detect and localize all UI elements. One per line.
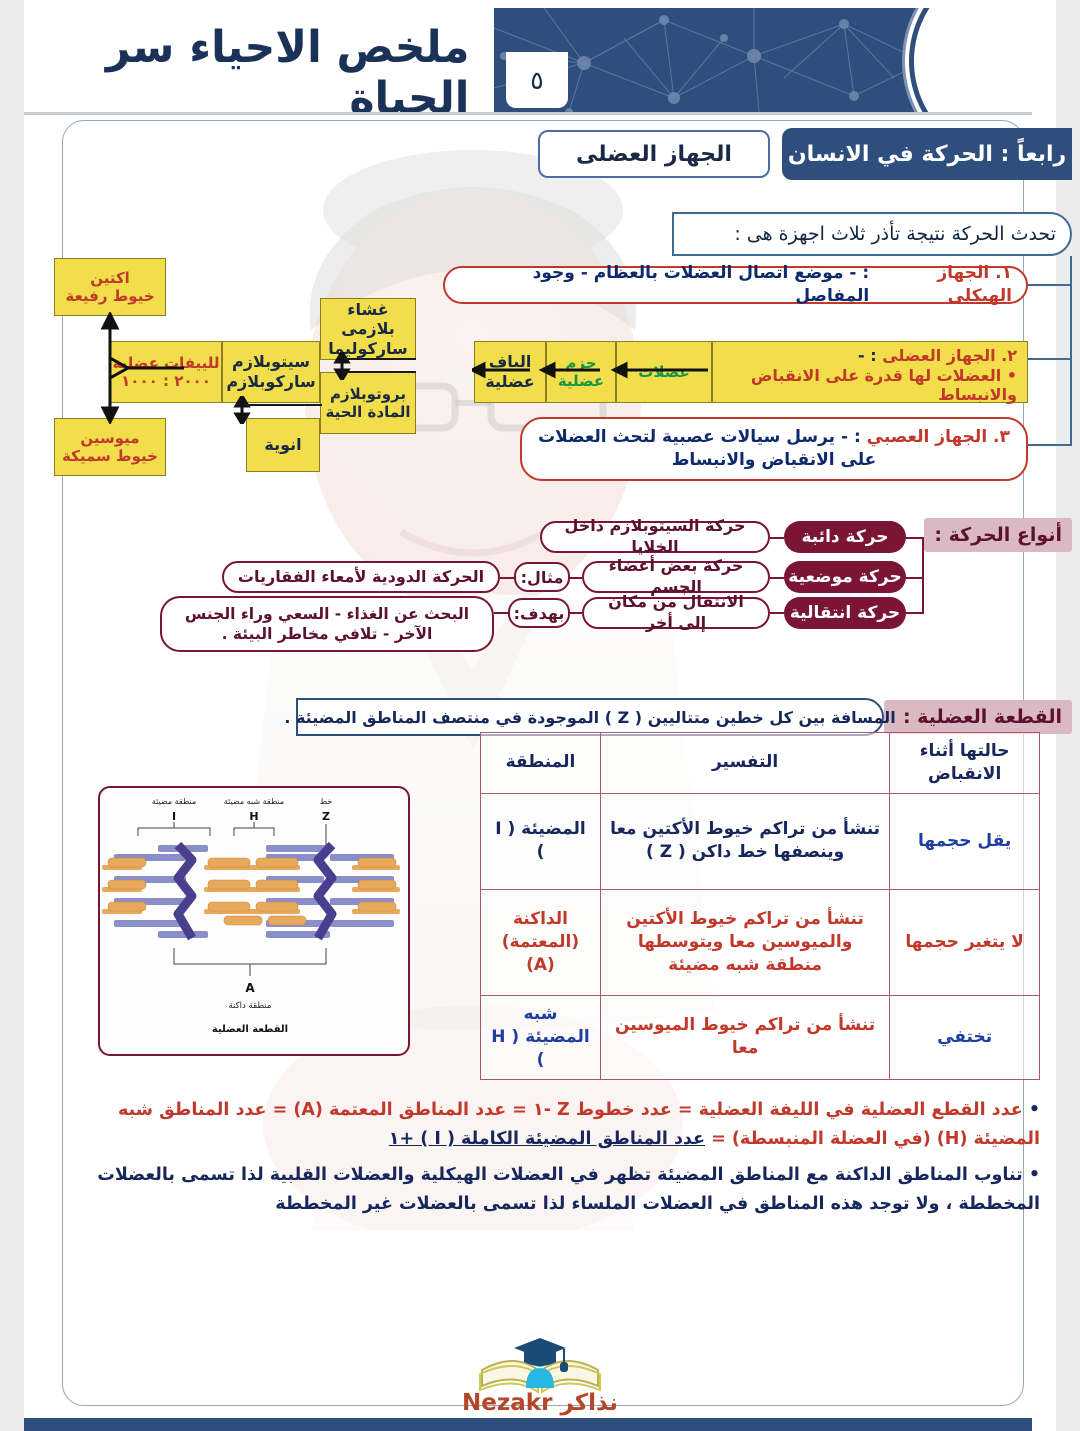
page-root: ملخص الاحياء سر الحياة ٥ [0,0,1080,1431]
sarcomere-definition: المسافة بين كل خطين متتاليين ( Z ) الموج… [296,698,884,736]
diagram-caption: القطعة العضلية [212,1024,288,1035]
note-bullet-icon: • [1029,1100,1040,1120]
table-cell-explain: تنشأ من تراكم خيوط الميوسين معا [600,995,889,1079]
box-myosin-line1: ميوسين [80,429,139,447]
note-item: • تناوب المناطق الداكنة مع المناطق المضي… [88,1161,1040,1219]
graduation-book-icon [474,1330,606,1394]
table-row: يقل حجمها تنشأ من تراكم خيوط الأكتين معا… [481,793,1040,889]
box-protoplasm-line1: بروتوبلازم [330,385,406,403]
movement-desc-2: حركة بعض أعضاء الجسم [582,561,770,593]
movement-branch-1 [906,537,924,539]
movement-type-3-label: حركة انتقالية [790,603,900,623]
table-row: لا يتغير حجمها تنشأ من تراكم خيوط الأكتي… [481,889,1040,995]
table-cell-explain: تنشأ من تراكم خيوط الأكتين والميوسين معا… [600,889,889,995]
movement-example-text-label: الحركة الدودية لأمعاء الفقاريات [238,567,484,588]
movement-goal-text: البحث عن الغذاء - السعي وراء الجنس الآخر… [160,596,494,652]
box-protoplasm: بروتوبلازم المادة الحية [320,372,416,434]
movement-example-text: الحركة الدودية لأمعاء الفقاريات [222,561,500,593]
movement-spine-vertical [922,537,924,613]
movement-link-example2 [500,577,514,579]
movement-branch-2 [906,577,924,579]
banner-title-area: ملخص الاحياء سر الحياة [24,8,494,112]
system-skeletal-desc: : - موضع اتصال العضلات بالعظام - وجود ال… [459,262,869,308]
movement-desc-1-label: حركة السيتوبلازم داخل الخلايا [550,516,760,558]
note-item: • عدد القطع العضلية في الليفة العضلية = … [88,1096,1040,1154]
movement-link-goal2 [494,612,508,614]
table-cell-state: لا يتغير حجمها [890,889,1040,995]
movement-branch-3 [906,612,924,614]
movement-type-1-label: حركة دائبة [801,527,888,547]
movement-goal-tag-label: بهدف: [514,604,565,623]
system-nervous: ٣. الجهاز العصبي : - يرسل سيالات عصبية ل… [520,417,1028,481]
system-skeletal: ١. الجهاز الهيكلى : - موضع اتصال العضلات… [443,266,1028,304]
page-title: ملخص الاحياء سر الحياة [43,22,470,112]
bottom-bar [24,1418,1032,1431]
connector-membrane-right2 [344,371,416,373]
table-header-region: المنطقة [481,733,601,794]
box-actin-line2: خيوط رفيعة [65,287,154,305]
system-nervous-name: ٣. الجهاز العصبي [867,427,1010,447]
diagram-label-z: خط [320,797,333,806]
movement-type-1: حركة دائبة [784,521,906,553]
membrane-protoplasm-arrow-icon [332,352,352,380]
box-actin: اكتين خيوط رفيعة [54,258,166,316]
box-myosin: ميوسين خيوط سميكة [54,418,166,476]
box-nuclei: انوية [246,418,320,472]
movement-desc-3: الانتقال من مكان إلى أخر [582,597,770,629]
system-muscular-colon: : - [858,346,882,365]
chain-arrows-icon [472,358,712,382]
box-cytoplasm-line1: سيتوبلازم [232,352,310,372]
box-myosin-line2: خيوط سميكة [62,447,158,465]
movement-example-tag-label: مثال: [521,568,564,587]
table-header-explain: التفسير [600,733,889,794]
sarcomere-diagram: منطقة مضيئة I منطقة شبه مضيئة H خط Z [98,786,410,1056]
banner-arc-decoration [914,8,1032,112]
section-tab: رابعاً : الحركة في الانسان [782,128,1072,180]
connector-cytoplasm-right [244,404,322,406]
sarcomere-diagram-svg: منطقة مضيئة I منطقة شبه مضيئة H خط Z [96,788,408,1058]
system-muscular-box: ٢. الجهاز العضلى : - • العضلات لها قدرة … [712,341,1028,403]
table-cell-region: الداكنة (المعتمة) (A) [481,889,601,995]
box-protoplasm-line2: المادة الحية [325,403,410,421]
movement-type-2-label: حركة موضعية [788,567,901,587]
brand-name: نذاكر Nezakr [462,1390,618,1416]
table-cell-state: يقل حجمها [890,793,1040,889]
movement-type-2: حركة موضعية [784,561,906,593]
box-cytoplasm: سيتوبلازم ساركوبلازم [222,341,320,403]
system-muscular-bullet: • العضلات لها قدرة على الانقباض والانبسا… [751,366,1017,405]
note-bullet-icon: • [1029,1165,1040,1185]
movement-goal-text-label: البحث عن الغذاء - السعي وراء الجنس الآخر… [170,604,484,644]
footer-logo: نذاكر Nezakr [0,1330,1080,1426]
movement-type-3: حركة انتقالية [784,597,906,629]
left-branch-arrows-icon [74,312,194,424]
movement-goal-tag: بهدف: [508,598,570,628]
diagram-letter-a: A [245,981,255,995]
diagram-label-a: منطقة داكنة [229,1001,272,1011]
note-2-text: تناوب المناطق الداكنة مع المناطق المضيئة… [97,1165,1040,1214]
box-plasma-membrane-line1: غشاء بلازمى [321,300,415,339]
notes-list: • عدد القطع العضلية في الليفة العضلية = … [88,1096,1040,1226]
movement-link-1 [770,537,784,539]
box-cytoplasm-line2: ساركوبلازم [226,372,315,392]
table-cell-state: تختفي [890,995,1040,1079]
sarcomere-definition-text: المسافة بين كل خطين متتاليين ( Z ) الموج… [284,708,895,727]
table-header-row: حالتها أثناء الانقباض التفسير المنطقة [481,733,1040,794]
movement-link-goal [570,612,582,614]
diagram-label-i: منطقة مضيئة [152,797,196,806]
box-plasma-membrane: غشاء بلازمى ساركوليما [320,298,416,360]
movement-example-tag: مثال: [514,562,570,592]
box-nuclei-label: انوية [264,435,301,455]
movement-desc-1: حركة السيتوبلازم داخل الخلايا [540,521,770,553]
page-number: ٥ [506,52,568,108]
sarcomere-table: حالتها أثناء الانقباض التفسير المنطقة يق… [480,732,1040,1080]
diagram-letter-z: Z [322,810,330,823]
spine-branch-2 [1026,358,1072,360]
system-skeletal-name: ١. الجهاز الهيكلى [869,262,1012,308]
table-header-state: حالتها أثناء الانقباض [890,733,1040,794]
table-row: تختفي تنشأ من تراكم خيوط الميوسين معا شب… [481,995,1040,1079]
system-muscular-name: ٢. الجهاز العضلى [882,346,1017,365]
system-nervous-desc: : - يرسل سيالات عصبية لتحث العضلات على ا… [538,427,876,470]
note-1-part2: عدد المناطق المضيئة الكاملة ( I ) +١ [389,1129,705,1149]
table-cell-explain: تنشأ من تراكم خيوط الأكتين معا وينصفها خ… [600,793,889,889]
section-subtitle: الجهاز العضلى [538,130,770,178]
box-actin-line1: اكتين [90,269,130,287]
connector-membrane-right [344,358,416,360]
diagram-letter-i: I [172,810,176,823]
movement-link-2 [770,577,784,579]
diagram-letter-h: H [249,810,258,823]
movement-types-label: أنواع الحركة : [924,518,1072,552]
movement-link-3 [770,612,784,614]
table-cell-region: المضيئة ( I ) [481,793,601,889]
table-cell-region: شبه المضيئة ( H ) [481,995,601,1079]
movement-desc-3-label: الانتقال من مكان إلى أخر [592,592,760,634]
sarcomere-label: القطعة العضلية : [884,700,1072,734]
diagram-label-h: منطقة شبه مضيئة [224,797,284,806]
spine-branch-1 [1026,284,1072,286]
movement-link-example [570,577,582,579]
banner-underline [24,112,1032,115]
intro-statement: تحدث الحركة نتيجة تأذر ثلاث اجهزة هى : [672,212,1072,256]
cytoplasm-nuclei-arrow-icon [232,396,252,424]
